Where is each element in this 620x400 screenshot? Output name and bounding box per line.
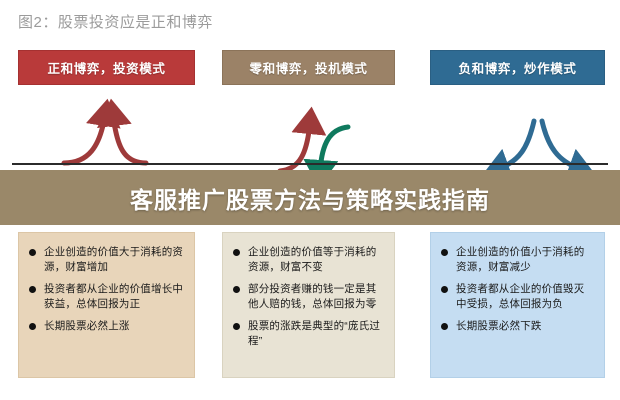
- list-item: 企业创造的价值小于消耗的资源，财富减少: [441, 245, 594, 275]
- bullet-list: 企业创造的价值大于消耗的资源，财富增加 投资者都从企业的价值增长中获益，总体回报…: [29, 245, 184, 334]
- arrow-up-left-red: [64, 115, 105, 163]
- list-item: 长期股票必然下跌: [441, 319, 594, 334]
- list-item: 股票的涨跌是典型的“庞氏过程”: [233, 319, 384, 349]
- arrow-down-right-blue: [542, 121, 580, 169]
- arrow-group-negative-sum: [498, 121, 580, 169]
- list-item: 企业创造的价值等于消耗的资源，财富不变: [233, 245, 384, 275]
- arrow-group-positive-sum: [64, 115, 146, 163]
- list-item: 部分投资者赚的钱一定是其他人赔的钱，总体回报为零: [233, 282, 384, 312]
- header-bar-zero-sum: 零和博弈，投机模式: [222, 50, 395, 85]
- list-item: 投资者都从企业的价值增长中获益，总体回报为正: [29, 282, 184, 312]
- content-box-negative-sum: 企业创造的价值小于消耗的资源，财富减少 投资者都从企业的价值毁灭中受损，总体回报…: [430, 232, 605, 378]
- header-bar-positive-sum: 正和博弈，投资模式: [18, 50, 195, 85]
- list-item: 投资者都从企业的价值毁灭中受损，总体回报为负: [441, 282, 594, 312]
- arrow-diagram-layer: [0, 85, 620, 170]
- content-box-zero-sum: 企业创造的价值等于消耗的资源，财富不变 部分投资者赚的钱一定是其他人赔的钱，总体…: [222, 232, 395, 378]
- content-box-positive-sum: 企业创造的价值大于消耗的资源，财富增加 投资者都从企业的价值增长中获益，总体回报…: [18, 232, 195, 378]
- header-bar-label: 零和博弈，投机模式: [250, 58, 368, 77]
- list-item: 长期股票必然上涨: [29, 319, 184, 334]
- header-bar-negative-sum: 负和博弈，炒作模式: [430, 50, 605, 85]
- header-bar-label: 正和博弈，投资模式: [48, 58, 166, 77]
- bullet-list: 企业创造的价值小于消耗的资源，财富减少 投资者都从企业的价值毁灭中受损，总体回报…: [441, 245, 594, 334]
- list-item: 企业创造的价值大于消耗的资源，财富增加: [29, 245, 184, 275]
- header-bar-label: 负和博弈，炒作模式: [459, 58, 577, 77]
- arrow-up-right-red: [113, 115, 146, 163]
- overlay-banner-title: 客服推广股票方法与策略实践指南: [130, 181, 490, 215]
- arrow-down-left-blue: [498, 121, 534, 169]
- overlay-banner: 客服推广股票方法与策略实践指南: [0, 170, 620, 225]
- figure-title: 图2：股票投资应是正和博弈: [18, 12, 213, 34]
- figure-container: 图2：股票投资应是正和博弈 正和博弈，投资模式 零和博弈，投机模式 负和博弈，炒…: [0, 0, 620, 400]
- baseline-divider: [12, 163, 608, 165]
- bullet-list: 企业创造的价值等于消耗的资源，财富不变 部分投资者赚的钱一定是其他人赔的钱，总体…: [233, 245, 384, 349]
